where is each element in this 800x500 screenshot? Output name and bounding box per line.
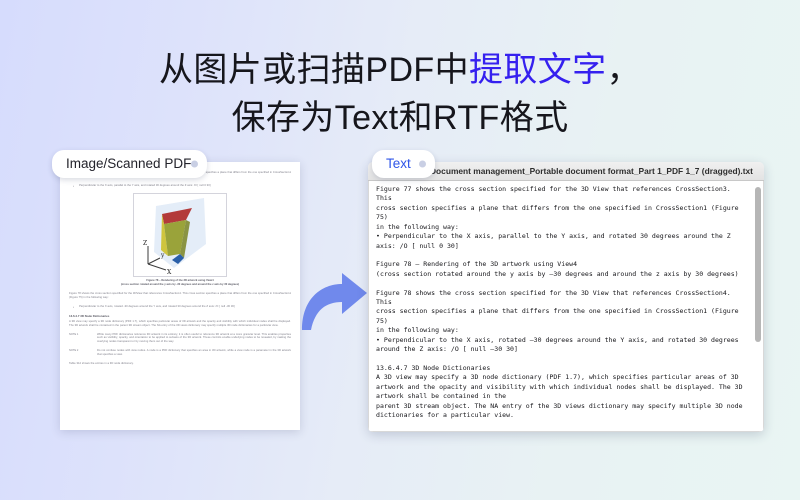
scrollbar-thumb[interactable]	[755, 187, 761, 342]
pdf-p2-text: Figure 78 shows the cross section specif…	[69, 292, 291, 300]
page-headline: 从图片或扫描PDF中提取文字， 保存为Text和RTF格式	[0, 46, 800, 143]
pdf-b1-text: Perpendicular to the X axis, parallel to…	[79, 184, 211, 188]
extracted-text-content[interactable]: Figure 77 shows the cross section specif…	[369, 181, 763, 432]
pdf-paragraph-2: Figure 78 shows the cross section specif…	[69, 292, 291, 300]
pdf-note-1: NOTE 1 While many PDF dictionaries refer…	[69, 333, 291, 345]
tag-image-scanned-pdf: Image/Scanned PDF	[52, 150, 207, 178]
headline-line-1: 从图片或扫描PDF中提取文字，	[0, 46, 800, 94]
bullet-dot-icon: •	[73, 184, 74, 188]
window-title: Document management_Portable document fo…	[430, 166, 753, 176]
pdf-note-2: NOTE 2 Do not confuse nodes with view no…	[69, 349, 291, 357]
axis-label-z: Z	[143, 240, 147, 247]
pdf-paragraph-3: A 3D view may specify a 3D node dictiona…	[69, 320, 291, 328]
tag-text: Text	[372, 150, 435, 178]
scanned-pdf-preview[interactable]: Figure 77 shows the cross section specif…	[60, 162, 300, 430]
headline-accent: 提取文字	[469, 51, 607, 89]
bullet-dot-icon: •	[73, 305, 74, 309]
pdf-table-line: Table 312 shows the entries in a 3D node…	[69, 362, 291, 366]
pdf-note-2-text: Do not confuse nodes with view nodes. A …	[97, 349, 291, 357]
conversion-arrow-icon	[298, 272, 370, 334]
3d-artwork-illustration: Z y X	[134, 194, 227, 277]
tag-left-dot-icon	[191, 161, 198, 168]
pdf-fig-caption-line-2: (cross section rotated around the y axis…	[69, 283, 291, 287]
headline-suffix: ，	[607, 51, 641, 89]
pdf-figure-caption: Figure 78 – Rendering of the 3D artwork …	[69, 279, 291, 287]
vertical-scrollbar[interactable]	[755, 183, 761, 429]
pdf-p3-text: A 3D view may specify a 3D node dictiona…	[69, 320, 291, 328]
pdf-bullet-1: • Perpendicular to the X axis, parallel …	[69, 184, 291, 188]
axis-label-y: y	[160, 252, 165, 259]
pdf-3d-figure: Z y X	[133, 193, 227, 277]
text-editor-body[interactable]: Figure 77 shows the cross section specif…	[368, 181, 764, 432]
pdf-page: Figure 77 shows the cross section specif…	[69, 171, 291, 424]
axis-label-x: X	[167, 269, 172, 276]
tag-left-label: Image/Scanned PDF	[66, 156, 191, 171]
text-editor-window[interactable]: Document management_Portable document fo…	[368, 162, 764, 432]
pdf-b2-text: Perpendicular to the X axis, rotated -30…	[79, 305, 235, 309]
pdf-bullet-2: • Perpendicular to the X axis, rotated -…	[69, 305, 291, 309]
headline-prefix: 从图片或扫描PDF中	[159, 51, 469, 89]
tag-right-dot-icon	[419, 161, 426, 168]
pdf-section-heading: 13.6.4.7 3D Node Dictionaries	[69, 314, 291, 318]
headline-line-2: 保存为Text和RTF格式	[0, 94, 800, 142]
pdf-note-1-text: While many PDF dictionaries reference 3D…	[97, 333, 291, 345]
tag-right-label: Text	[386, 156, 411, 171]
pdf-note-1-label: NOTE 1	[69, 333, 91, 345]
pdf-note-2-label: NOTE 2	[69, 349, 91, 357]
